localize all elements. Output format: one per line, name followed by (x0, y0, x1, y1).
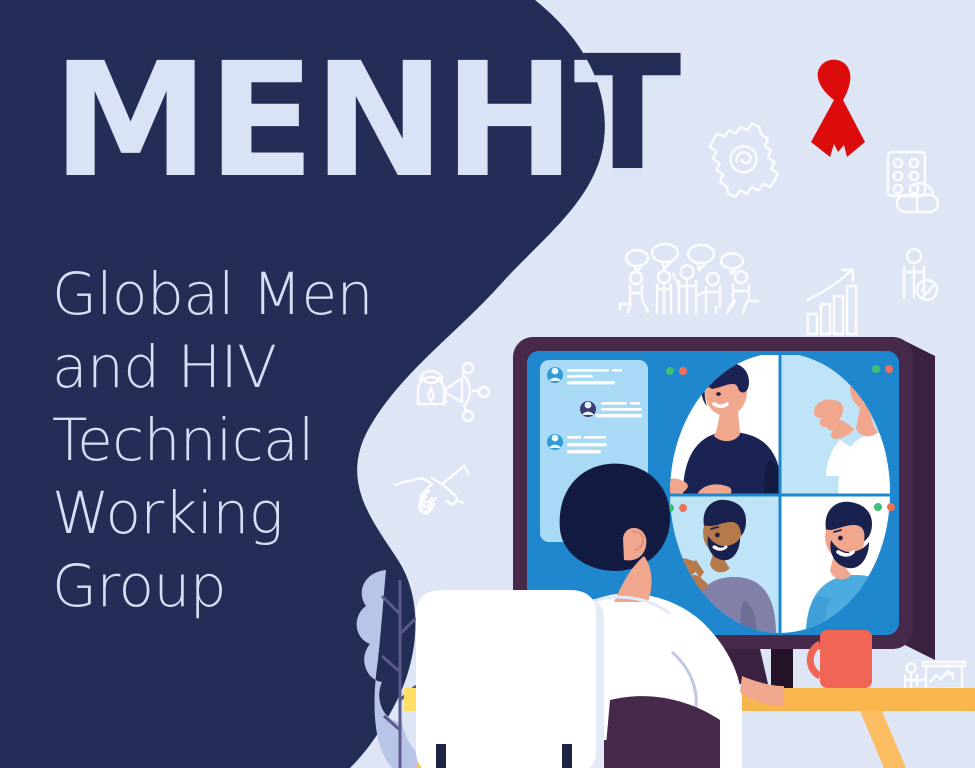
poster-canvas: MENHT MENHT Global Men and HIV Technical… (0, 0, 975, 768)
page-title-dark: MENHT (52, 22, 681, 206)
page-title-dark-overlay: MENHT (0, 0, 975, 768)
